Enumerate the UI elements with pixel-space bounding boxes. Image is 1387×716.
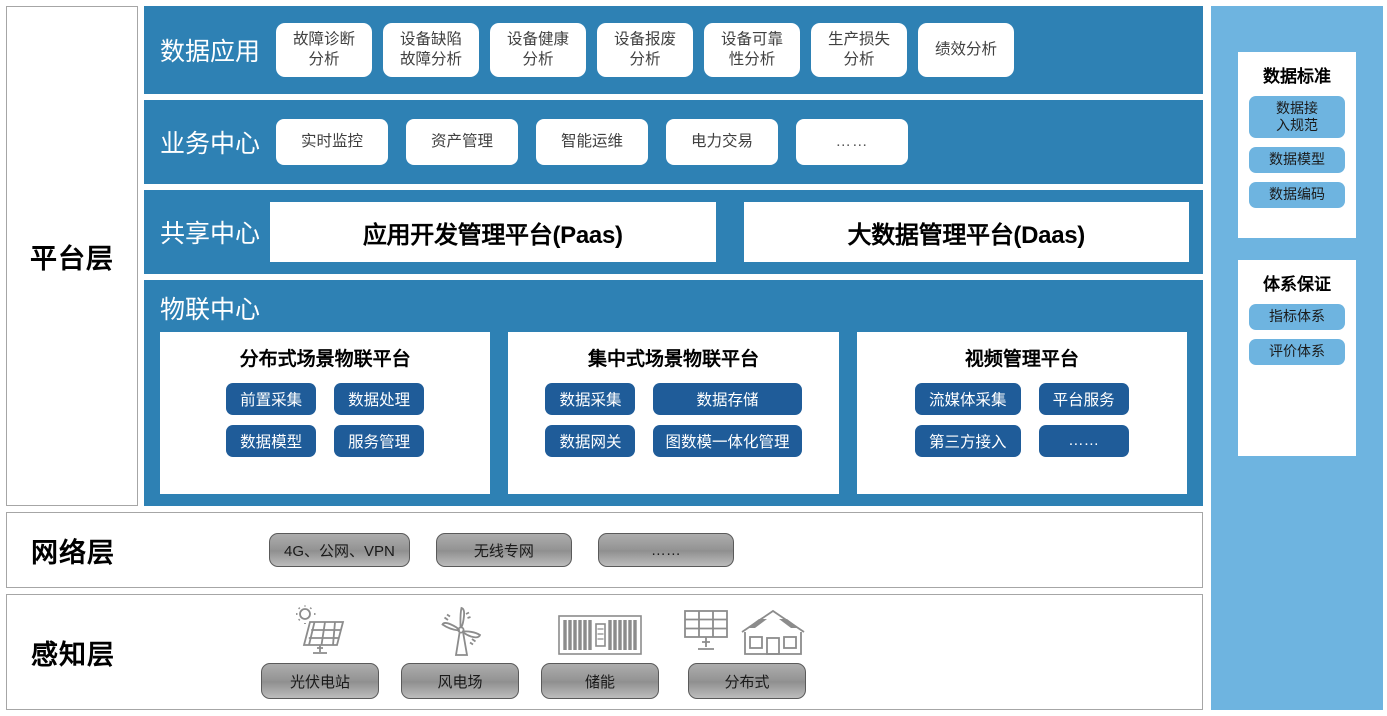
solar-panel-sun-icon — [288, 605, 352, 657]
data-application-band: 数据应用 故障诊断 分析 设备缺陷 故障分析 设备健康 分析 设备报废 分析 设… — [144, 6, 1203, 94]
iot-button[interactable]: 平台服务 — [1039, 383, 1129, 415]
iot-card-buttons: 前置采集 数据处理 数据模型 服务管理 — [226, 383, 424, 457]
business-center-items: 实时监控 资产管理 智能运维 电力交易 …… — [276, 119, 1193, 165]
sensing-item-label[interactable]: 储能 — [541, 663, 659, 699]
data-application-item[interactable]: 设备报废 分析 — [597, 23, 693, 77]
sensing-item-energy-storage: 储能 — [541, 605, 659, 699]
data-standards-chip[interactable]: 数据接 入规范 — [1249, 96, 1345, 138]
business-center-item-more[interactable]: …… — [796, 119, 908, 165]
iot-button[interactable]: 前置采集 — [226, 383, 316, 415]
iot-card-title: 视频管理平台 — [965, 344, 1079, 371]
sensing-item-wind-farm: 风电场 — [401, 605, 519, 699]
data-application-item[interactable]: 故障诊断 分析 — [276, 23, 372, 77]
iot-card-buttons: 数据采集 数据存储 数据网关 图数模一体化管理 — [545, 383, 801, 457]
sensing-layer-block: 感知层 光伏电站 — [6, 594, 1203, 710]
business-center-item[interactable]: 电力交易 — [666, 119, 778, 165]
iot-center-title: 物联中心 — [154, 288, 1193, 332]
iot-card-buttons: 流媒体采集 平台服务 第三方接入 …… — [915, 383, 1129, 457]
sensing-item-label[interactable]: 分布式 — [688, 663, 806, 699]
iot-button[interactable]: 流媒体采集 — [915, 383, 1021, 415]
video-management-platform-card: 视频管理平台 流媒体采集 平台服务 第三方接入 …… — [857, 332, 1187, 494]
iot-button[interactable]: 数据模型 — [226, 425, 316, 457]
sensing-item-solar-station: 光伏电站 — [261, 605, 379, 699]
data-application-title: 数据应用 — [144, 32, 276, 68]
iot-button[interactable]: 服务管理 — [334, 425, 424, 457]
architecture-diagram: 平台层 数据应用 故障诊断 分析 设备缺陷 故障分析 设备健康 分析 设备报废 … — [0, 0, 1387, 716]
system-assurance-chip[interactable]: 指标体系 — [1249, 304, 1345, 330]
wind-turbine-icon — [430, 605, 490, 657]
main-layers-column: 平台层 数据应用 故障诊断 分析 设备缺陷 故障分析 设备健康 分析 设备报废 … — [6, 6, 1203, 710]
system-assurance-card: 体系保证 指标体系 评价体系 — [1238, 260, 1356, 456]
platform-layer-block: 平台层 数据应用 故障诊断 分析 设备缺陷 故障分析 设备健康 分析 设备报废 … — [6, 6, 1203, 506]
network-item[interactable]: 无线专网 — [436, 533, 572, 567]
shared-center-platforms: 应用开发管理平台(Paas) 大数据管理平台(Daas) — [270, 202, 1189, 262]
iot-button[interactable]: 数据存储 — [653, 383, 801, 415]
iot-button[interactable]: 数据处理 — [334, 383, 424, 415]
data-standards-card: 数据标准 数据接 入规范 数据模型 数据编码 — [1238, 52, 1356, 238]
data-application-item[interactable]: 生产损失 分析 — [811, 23, 907, 77]
system-assurance-title: 体系保证 — [1263, 270, 1331, 295]
sensing-layer-label: 感知层 — [7, 633, 139, 672]
platform-layer-label: 平台层 — [30, 237, 114, 276]
iot-center-band: 物联中心 分布式场景物联平台 前置采集 数据处理 数据模型 服务管理 — [144, 280, 1203, 506]
battery-storage-icon — [557, 605, 643, 657]
iot-button[interactable]: 图数模一体化管理 — [653, 425, 801, 457]
distributed-iot-platform-card: 分布式场景物联平台 前置采集 数据处理 数据模型 服务管理 — [160, 332, 490, 494]
right-rail: 数据标准 数据接 入规范 数据模型 数据编码 体系保证 指标体系 评价体系 — [1211, 6, 1383, 710]
business-center-item[interactable]: 资产管理 — [406, 119, 518, 165]
platform-rows: 数据应用 故障诊断 分析 设备缺陷 故障分析 设备健康 分析 设备报废 分析 设… — [144, 6, 1203, 506]
system-assurance-chip[interactable]: 评价体系 — [1249, 339, 1345, 365]
network-item[interactable]: 4G、公网、VPN — [269, 533, 410, 567]
data-standards-title: 数据标准 — [1263, 62, 1331, 87]
network-item-more[interactable]: …… — [598, 533, 734, 567]
data-application-items: 故障诊断 分析 设备缺陷 故障分析 设备健康 分析 设备报废 分析 设备可靠 性… — [276, 23, 1193, 77]
sensing-item-label[interactable]: 风电场 — [401, 663, 519, 699]
iot-card-title: 集中式场景物联平台 — [588, 344, 759, 371]
network-layer-block: 网络层 4G、公网、VPN 无线专网 …… — [6, 512, 1203, 588]
data-application-item[interactable]: 设备健康 分析 — [490, 23, 586, 77]
shared-center-title: 共享中心 — [144, 214, 270, 250]
business-center-item[interactable]: 实时监控 — [276, 119, 388, 165]
sensing-item-label[interactable]: 光伏电站 — [261, 663, 379, 699]
data-application-item[interactable]: 设备缺陷 故障分析 — [383, 23, 479, 77]
iot-button-more[interactable]: …… — [1039, 425, 1129, 457]
data-application-item[interactable]: 绩效分析 — [918, 23, 1014, 77]
rooftop-solar-house-icon — [681, 605, 813, 657]
daas-platform-card[interactable]: 大数据管理平台(Daas) — [744, 202, 1190, 262]
iot-center-cards: 分布式场景物联平台 前置采集 数据处理 数据模型 服务管理 集中式场景物联平台 — [154, 332, 1193, 496]
data-standards-chip[interactable]: 数据模型 — [1249, 147, 1345, 173]
paas-platform-card[interactable]: 应用开发管理平台(Paas) — [270, 202, 716, 262]
data-application-item[interactable]: 设备可靠 性分析 — [704, 23, 800, 77]
sensing-items: 光伏电站 风电场 — [139, 605, 1202, 699]
network-layer-label: 网络层 — [7, 531, 139, 570]
centralized-iot-platform-card: 集中式场景物联平台 数据采集 数据存储 数据网关 图数模一体化管理 — [508, 332, 838, 494]
iot-button[interactable]: 数据采集 — [545, 383, 635, 415]
data-standards-chip[interactable]: 数据编码 — [1249, 182, 1345, 208]
iot-button[interactable]: 第三方接入 — [915, 425, 1021, 457]
business-center-item[interactable]: 智能运维 — [536, 119, 648, 165]
iot-button[interactable]: 数据网关 — [545, 425, 635, 457]
network-items: 4G、公网、VPN 无线专网 …… — [139, 533, 1202, 567]
sensing-item-distributed: 分布式 — [681, 605, 813, 699]
platform-layer-label-box: 平台层 — [6, 6, 138, 506]
iot-card-title: 分布式场景物联平台 — [240, 344, 411, 371]
shared-center-band: 共享中心 应用开发管理平台(Paas) 大数据管理平台(Daas) — [144, 190, 1203, 274]
business-center-title: 业务中心 — [144, 124, 276, 160]
business-center-band: 业务中心 实时监控 资产管理 智能运维 电力交易 …… — [144, 100, 1203, 184]
